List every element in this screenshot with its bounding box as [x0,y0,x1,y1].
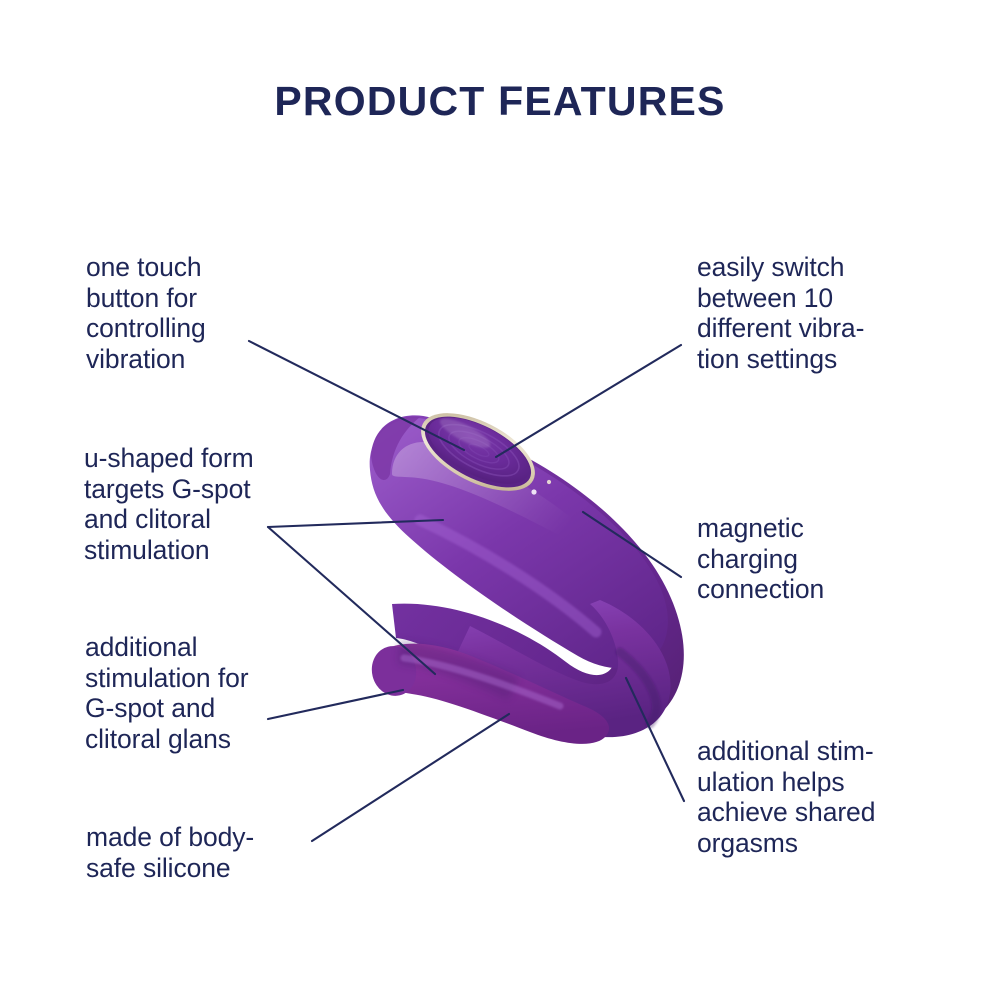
feature-label-additional-stimulation-right: additional stim- ulation helps achieve s… [697,736,947,858]
led-indicator-dot-1 [531,489,536,494]
led-indicator-dot-2 [547,480,551,484]
feature-label-easily-switch: easily switch between 10 different vibra… [697,252,937,374]
feature-label-magnetic-charging: magnetic charging connection [697,513,927,605]
feature-label-u-shaped: u-shaped form targets G-spot and clitora… [84,443,324,565]
feature-label-one-touch: one touch button for controlling vibrati… [86,252,316,374]
page-title: PRODUCT FEATURES [0,78,1000,125]
feature-label-additional-stimulation-left: additional stimulation for G-spot and cl… [85,632,335,754]
feature-label-body-safe-silicone: made of body- safe silicone [86,822,336,883]
product-body [367,397,684,744]
product-features-infographic: PRODUCT FEATURES one touch button for co… [0,0,1000,1000]
